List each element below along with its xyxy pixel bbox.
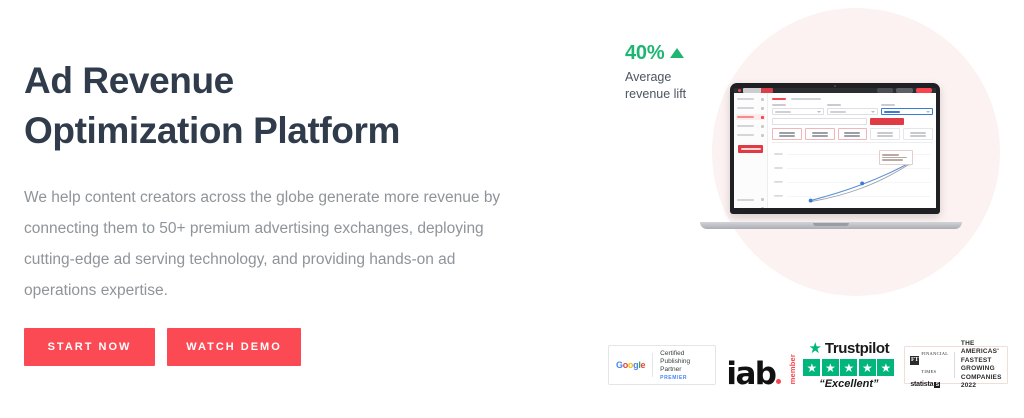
star-icon-4: ★ [859, 359, 876, 376]
kpi-tab-strip [772, 128, 933, 143]
headline-line-2: Optimization Platform [24, 106, 544, 156]
logo-wordmark [743, 88, 773, 93]
ft-mark: FT [910, 356, 919, 365]
google-badge-tier: PREMIER [660, 375, 708, 381]
star-icon-5: ★ [877, 359, 894, 376]
sidebar-item-label [737, 199, 754, 201]
chevron-down-icon [817, 111, 821, 113]
sidebar-item-label [737, 125, 754, 127]
select-value [830, 111, 846, 113]
star-icon-3: ★ [840, 359, 857, 376]
ft-publisher-line-1: FINANCIAL [921, 351, 948, 356]
stat-label-line-1: Average [625, 70, 671, 84]
dashboard-body [734, 93, 936, 208]
page-title: Ad Revenue Optimization Platform [24, 56, 544, 156]
sidebar-item-optimization[interactable] [736, 123, 765, 129]
stat-value-row: 40% [625, 42, 735, 65]
google-badge-text: Certified Publishing Partner PREMIER [660, 350, 708, 381]
chart-tooltip [879, 150, 913, 165]
logo-dot-icon [738, 89, 741, 92]
sidebar-item-icon [761, 107, 764, 110]
sidebar-item-label [737, 107, 754, 109]
trustpilot-wordmark: Trustpilot [825, 340, 889, 357]
hero-copy-column: Ad Revenue Optimization Platform We help… [24, 56, 544, 366]
financial-times-logo: FT FINANCIAL TIMES [910, 342, 948, 378]
kpi-tab-title [844, 132, 860, 134]
sidebar-item-icon [761, 116, 764, 119]
cta-button-row: START NOW WATCH DEMO [24, 328, 544, 366]
report-by-select[interactable] [772, 108, 824, 115]
laptop-base [700, 222, 962, 229]
star-icon-2: ★ [822, 359, 839, 376]
tooltip-row-2 [882, 159, 903, 161]
statista-logo: statista S [910, 381, 940, 388]
kpi-tab-page-views[interactable] [805, 128, 835, 140]
metric-select[interactable] [772, 118, 867, 125]
sidebar-item-label [737, 116, 754, 118]
iab-member-logo: iab member [726, 342, 793, 388]
filter-report-by [772, 104, 824, 115]
star-icon-1: ★ [803, 359, 820, 376]
dashboard-main [768, 93, 936, 208]
ft-award-line-3: COMPANIES 2022 [961, 374, 1002, 391]
triangle-up-icon [670, 48, 684, 58]
trustpilot-verdict: “Excellent” [819, 378, 878, 390]
sidebar-item-icon [761, 198, 764, 201]
kpi-tab-value [812, 135, 828, 137]
report-filters [772, 104, 933, 115]
google-certified-publishing-partner-badge: Google Certified Publishing Partner PREM… [608, 345, 716, 385]
google-badge-line-1: Certified [660, 350, 708, 358]
watch-demo-button[interactable]: WATCH DEMO [167, 328, 301, 366]
ft-badge-left: FT FINANCIAL TIMES statista S [910, 342, 948, 388]
sidebar-item-icon [761, 134, 764, 137]
breadcrumb-current [791, 98, 821, 100]
hero-section: Ad Revenue Optimization Platform We help… [0, 0, 1024, 418]
google-logo: Google [616, 360, 645, 370]
kpi-tab-value [910, 135, 926, 137]
dashboard-logo [738, 88, 773, 93]
revenue-line-chart [772, 148, 933, 208]
ft-badge-divider [954, 352, 955, 378]
sidebar-item-label [737, 134, 754, 136]
webcam-icon [834, 85, 836, 87]
stat-value: 40% [625, 42, 664, 65]
kpi-tab-ctr[interactable] [903, 128, 933, 140]
dashboard-sidebar [734, 93, 768, 208]
filter-date-range [881, 104, 933, 115]
google-letter-g: G [616, 360, 623, 370]
select-value [775, 111, 791, 113]
breadcrumb [772, 96, 933, 101]
sidebar-item-support[interactable] [736, 197, 765, 203]
trustpilot-star-icon: ★ [808, 342, 821, 356]
breadcrumb-root[interactable] [772, 98, 786, 100]
sidebar-item-icon [761, 98, 764, 101]
laptop-mockup [700, 83, 962, 229]
sidebar-item-settings[interactable] [736, 206, 765, 208]
sidebar-footer [736, 197, 765, 208]
filter-label [772, 104, 786, 106]
kpi-tab-value [877, 135, 893, 137]
sidebar-item-label [737, 98, 754, 100]
ft-publisher-line-2: TIMES [921, 369, 936, 374]
headline-line-1: Ad Revenue [24, 60, 234, 101]
select-value [884, 111, 900, 113]
sidebar-item-icon [761, 125, 764, 128]
sidebar-item-dashboard[interactable] [736, 96, 765, 102]
kpi-tab-title [812, 132, 828, 134]
kpi-tab-page-rpm[interactable] [838, 128, 868, 140]
statista-wordmark: statista [910, 381, 933, 388]
ft-award-text: THE AMERICAS' FASTEST GROWING COMPANIES … [961, 340, 1002, 391]
trustpilot-rating: ★ Trustpilot ★ ★ ★ ★ ★ “Excellent” [803, 340, 894, 390]
google-letter-e: e [641, 360, 646, 370]
start-now-button[interactable]: START NOW [24, 328, 155, 366]
ft-award-line-1: THE AMERICAS' [961, 340, 1002, 357]
interval-select[interactable] [827, 108, 879, 115]
iab-dot-icon [776, 379, 781, 384]
trustpilot-star-row: ★ ★ ★ ★ ★ [803, 359, 894, 376]
kpi-tab-title [779, 132, 795, 134]
generate-report-button[interactable] [870, 118, 904, 125]
partner-logo-strip: Google Certified Publishing Partner PREM… [608, 336, 1008, 394]
sidebar-item-icon [761, 207, 764, 208]
date-range-picker[interactable] [881, 108, 933, 115]
tooltip-title [882, 154, 899, 156]
trustpilot-logo: ★ Trustpilot [808, 340, 889, 357]
google-badge-divider [652, 353, 653, 377]
sidebar-primary-button[interactable] [738, 145, 763, 153]
sidebar-item-sites[interactable] [736, 105, 765, 111]
calendar-icon [926, 111, 930, 113]
ft-award-line-2: FASTEST GROWING [961, 357, 1002, 374]
filter-label [827, 104, 841, 106]
filter-interval [827, 104, 879, 115]
report-actions-row [772, 118, 933, 125]
kpi-tab-revenue[interactable] [772, 128, 802, 140]
laptop-base-notch [813, 223, 849, 226]
iab-member-label: member [788, 354, 797, 384]
statista-mark-icon: S [934, 382, 940, 388]
kpi-tab-title [910, 132, 926, 134]
sidebar-item-ad-units[interactable] [736, 132, 765, 138]
sidebar-button-label [741, 148, 761, 150]
laptop-lid [730, 83, 940, 214]
chevron-down-icon [871, 111, 875, 113]
tooltip-row-1 [882, 157, 907, 159]
ft-statista-award-badge: FT FINANCIAL TIMES statista S THE AMERIC… [904, 346, 1008, 384]
stat-label-line-2: revenue lift [625, 87, 686, 101]
kpi-tab-impressions[interactable] [870, 128, 900, 140]
filter-label [881, 104, 895, 106]
kpi-tab-title [877, 132, 893, 134]
hero-description: We help content creators across the glob… [24, 182, 504, 306]
export-report-button[interactable] [907, 118, 933, 125]
dashboard-screen [734, 88, 936, 208]
sidebar-item-reports[interactable] [736, 114, 765, 120]
kpi-tab-value [844, 135, 860, 137]
ft-publisher-name: FINANCIAL TIMES [921, 342, 948, 378]
kpi-tab-value [779, 135, 795, 137]
iab-wordmark: iab [726, 360, 775, 388]
google-badge-line-2: Publishing Partner [660, 358, 708, 374]
